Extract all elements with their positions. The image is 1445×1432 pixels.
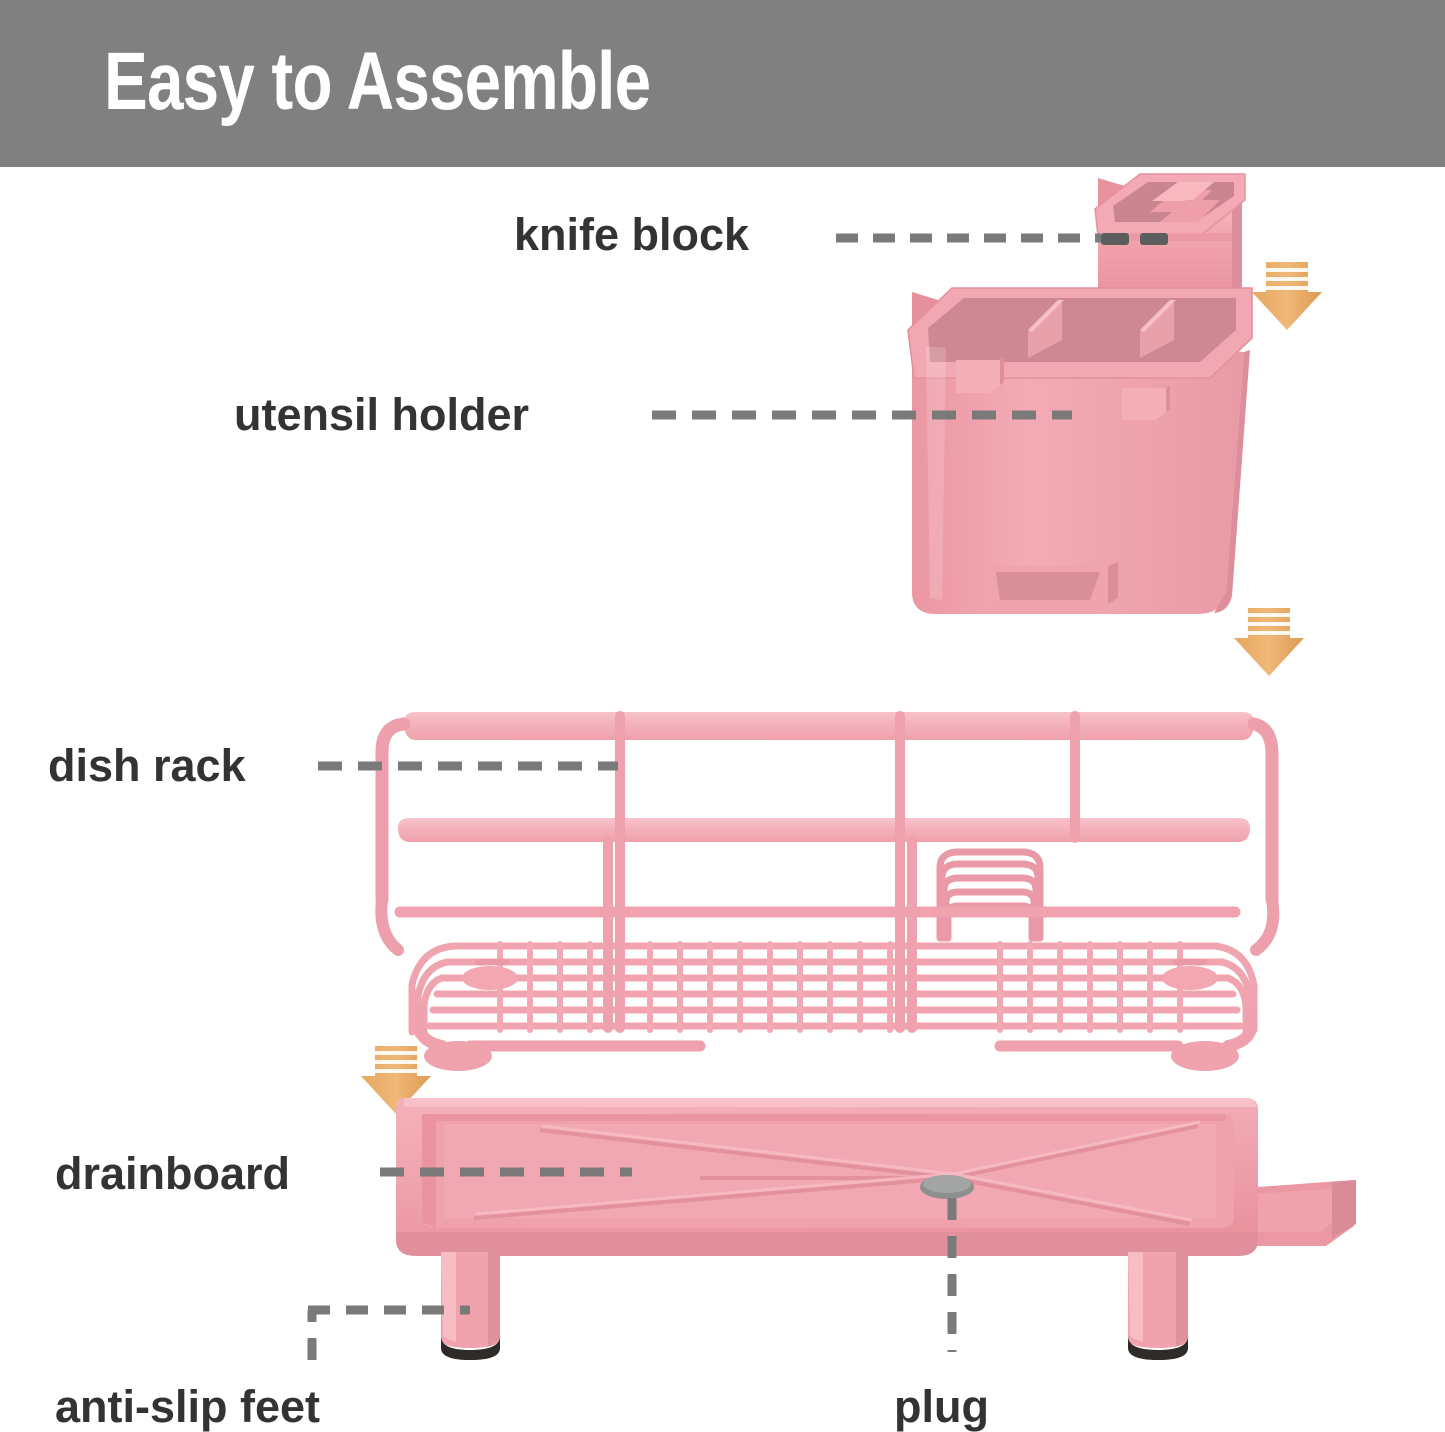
- callout-label-knife-block: knife block: [514, 209, 749, 261]
- callout-label-drainboard: drainboard: [55, 1148, 290, 1200]
- arrow-utensil-to-rack-icon: [1234, 608, 1304, 676]
- callout-label-plug: plug: [894, 1381, 989, 1432]
- utensil-holder-part: [908, 288, 1252, 614]
- arrow-knife-to-utensil-icon: [1252, 262, 1322, 330]
- drainboard-leg-left: [441, 1252, 500, 1360]
- callout-label-utensil-holder: utensil holder: [234, 389, 529, 441]
- callout-label-dish-rack: dish rack: [48, 740, 246, 792]
- dish-rack-part: [381, 712, 1273, 1071]
- callout-label-anti-slip-feet: anti-slip feet: [55, 1381, 320, 1432]
- product-assembly-diagram: Easy to Assemble: [0, 0, 1445, 1432]
- drainboard-leg-right: [1128, 1252, 1188, 1360]
- drainboard-part: [396, 1098, 1356, 1360]
- knife-block-part: [1095, 174, 1245, 304]
